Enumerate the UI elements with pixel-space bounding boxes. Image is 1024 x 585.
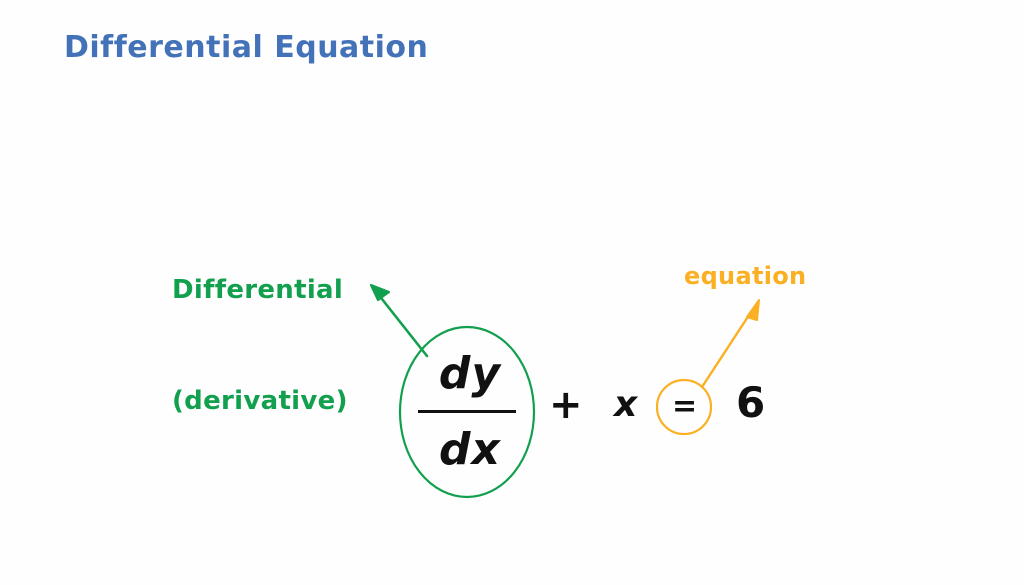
annotation-label-differential-line2: (derivative) [172,383,348,420]
annotation-label-equation: equation [684,262,806,290]
equals-operator: = [672,389,697,424]
plus-operator: + [549,382,583,428]
annotation-overlay [0,0,1024,585]
fraction-denominator: dx [424,424,516,475]
page-title: Differential Equation [64,30,428,65]
variable-x: x [614,384,637,425]
slide-canvas: Differential Equation Differential (deri… [0,0,1024,585]
right-hand-side-value: 6 [736,378,765,427]
fraction-bar [418,410,516,413]
green-arrow [371,285,427,356]
fraction-numerator: dy [424,348,516,399]
orange-arrow [702,300,759,387]
annotation-label-differential: Differential (derivative) [172,198,348,493]
annotation-label-differential-line1: Differential [172,272,348,309]
